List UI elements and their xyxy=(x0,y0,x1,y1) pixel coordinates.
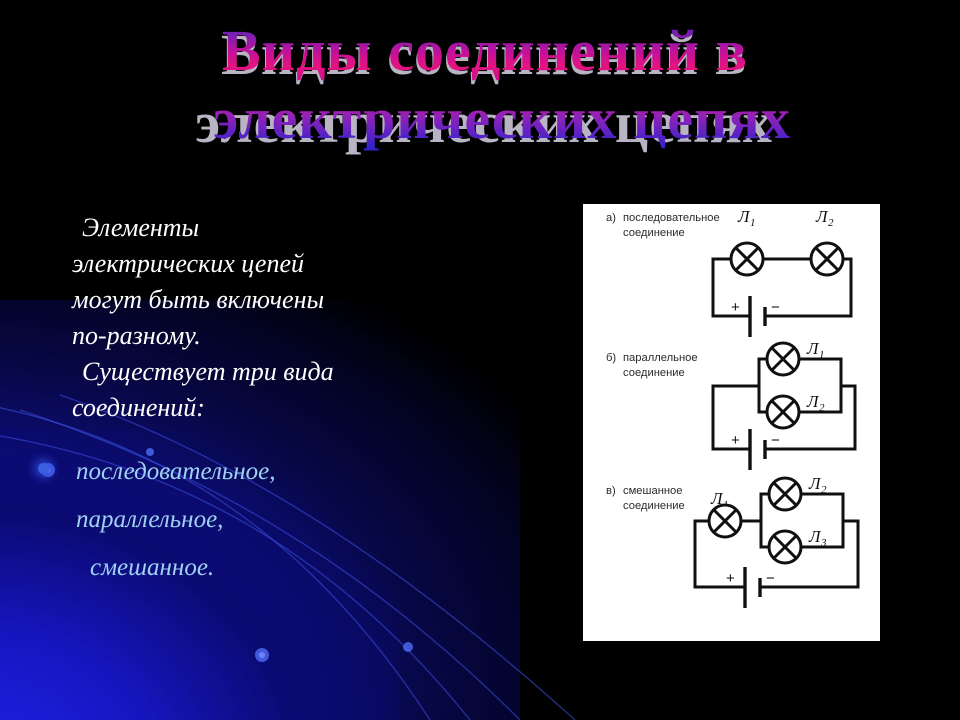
list-item[interactable]: последовательное, xyxy=(60,448,500,496)
paragraph-line: по-разному. xyxy=(72,318,492,354)
bullet-dot-icon xyxy=(38,463,49,474)
title-line-1-text: Виды соединений в xyxy=(222,18,748,83)
title-line-2-shadow: электрических цепях xyxy=(4,86,960,160)
presentation-slide: Виды соединений в Виды соединений в элек… xyxy=(0,0,960,720)
battery-plus-b: + xyxy=(731,432,740,449)
circuit-b-caption-line2: соединение xyxy=(623,367,685,379)
paragraph-line: Существует три вида xyxy=(72,354,492,390)
battery-minus-c: − xyxy=(766,570,775,587)
lamp-subscript-a1: 1 xyxy=(750,217,756,229)
circuit-mixed: в) смешанное соединение Л 1 Л 2 Л 3 xyxy=(606,474,858,608)
paragraph-line: могут быть включены xyxy=(72,282,492,318)
paragraph-line: Элементы xyxy=(72,210,492,246)
list-item[interactable]: смешанное. xyxy=(60,544,500,592)
title-line-2-text: электрических цепях xyxy=(213,86,791,151)
circuit-a-marker: а) xyxy=(606,212,616,224)
lamp-label-a1: Л xyxy=(737,207,751,226)
paragraph-line: соединений: xyxy=(72,390,492,426)
lamp-label-c3: Л xyxy=(808,527,822,546)
title-line-1-shadow: Виды соединений в xyxy=(4,18,960,92)
lamp-symbol-a2 xyxy=(811,243,843,275)
title-line-1: Виды соединений в Виды соединений в xyxy=(0,14,960,88)
lamp-symbol-c1 xyxy=(709,505,741,537)
circuit-b-caption-line1: параллельное xyxy=(623,352,698,364)
list-item-label: параллельное, xyxy=(60,506,223,533)
lamp-subscript-a2: 2 xyxy=(828,217,834,229)
body-paragraph: Элементы электрических цепей могут быть … xyxy=(72,210,492,426)
lamp-symbol-b1 xyxy=(767,343,799,375)
slide-title: Виды соединений в Виды соединений в элек… xyxy=(0,14,960,156)
circuit-c-caption-line2: соединение xyxy=(623,500,685,512)
connection-types-list: последовательное, параллельное, смешанно… xyxy=(60,448,500,592)
circuit-c-marker: в) xyxy=(606,485,616,497)
lamp-symbol-a1 xyxy=(731,243,763,275)
battery-minus-a: − xyxy=(771,299,780,316)
lamp-symbol-c2 xyxy=(769,478,801,510)
lamp-symbol-b2 xyxy=(767,396,799,428)
circuit-a-caption-line2: соединение xyxy=(623,227,685,239)
paragraph-line: электрических цепей xyxy=(72,246,492,282)
circuit-series: а) последовательное соединение Л 1 Л 2 xyxy=(606,207,851,337)
list-item-label: смешанное. xyxy=(60,554,214,581)
title-line-2: электрических цепях электрических цепях xyxy=(0,82,960,156)
circuit-b-marker: б) xyxy=(606,352,616,364)
lamp-symbol-c3 xyxy=(769,531,801,563)
lamp-label-b1: Л xyxy=(806,339,820,358)
battery-plus-c: + xyxy=(726,570,735,587)
circuit-a-caption-line1: последовательное xyxy=(623,212,720,224)
circuit-c-caption-line1: смешанное xyxy=(623,485,683,497)
list-item-label: последовательное, xyxy=(60,458,275,485)
lamp-label-b2: Л xyxy=(806,392,820,411)
list-item[interactable]: параллельное, xyxy=(60,496,500,544)
battery-plus-a: + xyxy=(731,299,740,316)
circuit-diagram-panel[interactable]: а) последовательное соединение Л 1 Л 2 xyxy=(583,204,880,641)
lamp-label-a2: Л xyxy=(815,207,829,226)
lamp-label-c2: Л xyxy=(808,474,822,493)
battery-minus-b: − xyxy=(771,432,780,449)
circuit-parallel: б) параллельное соединение Л 1 Л 2 xyxy=(606,339,855,470)
